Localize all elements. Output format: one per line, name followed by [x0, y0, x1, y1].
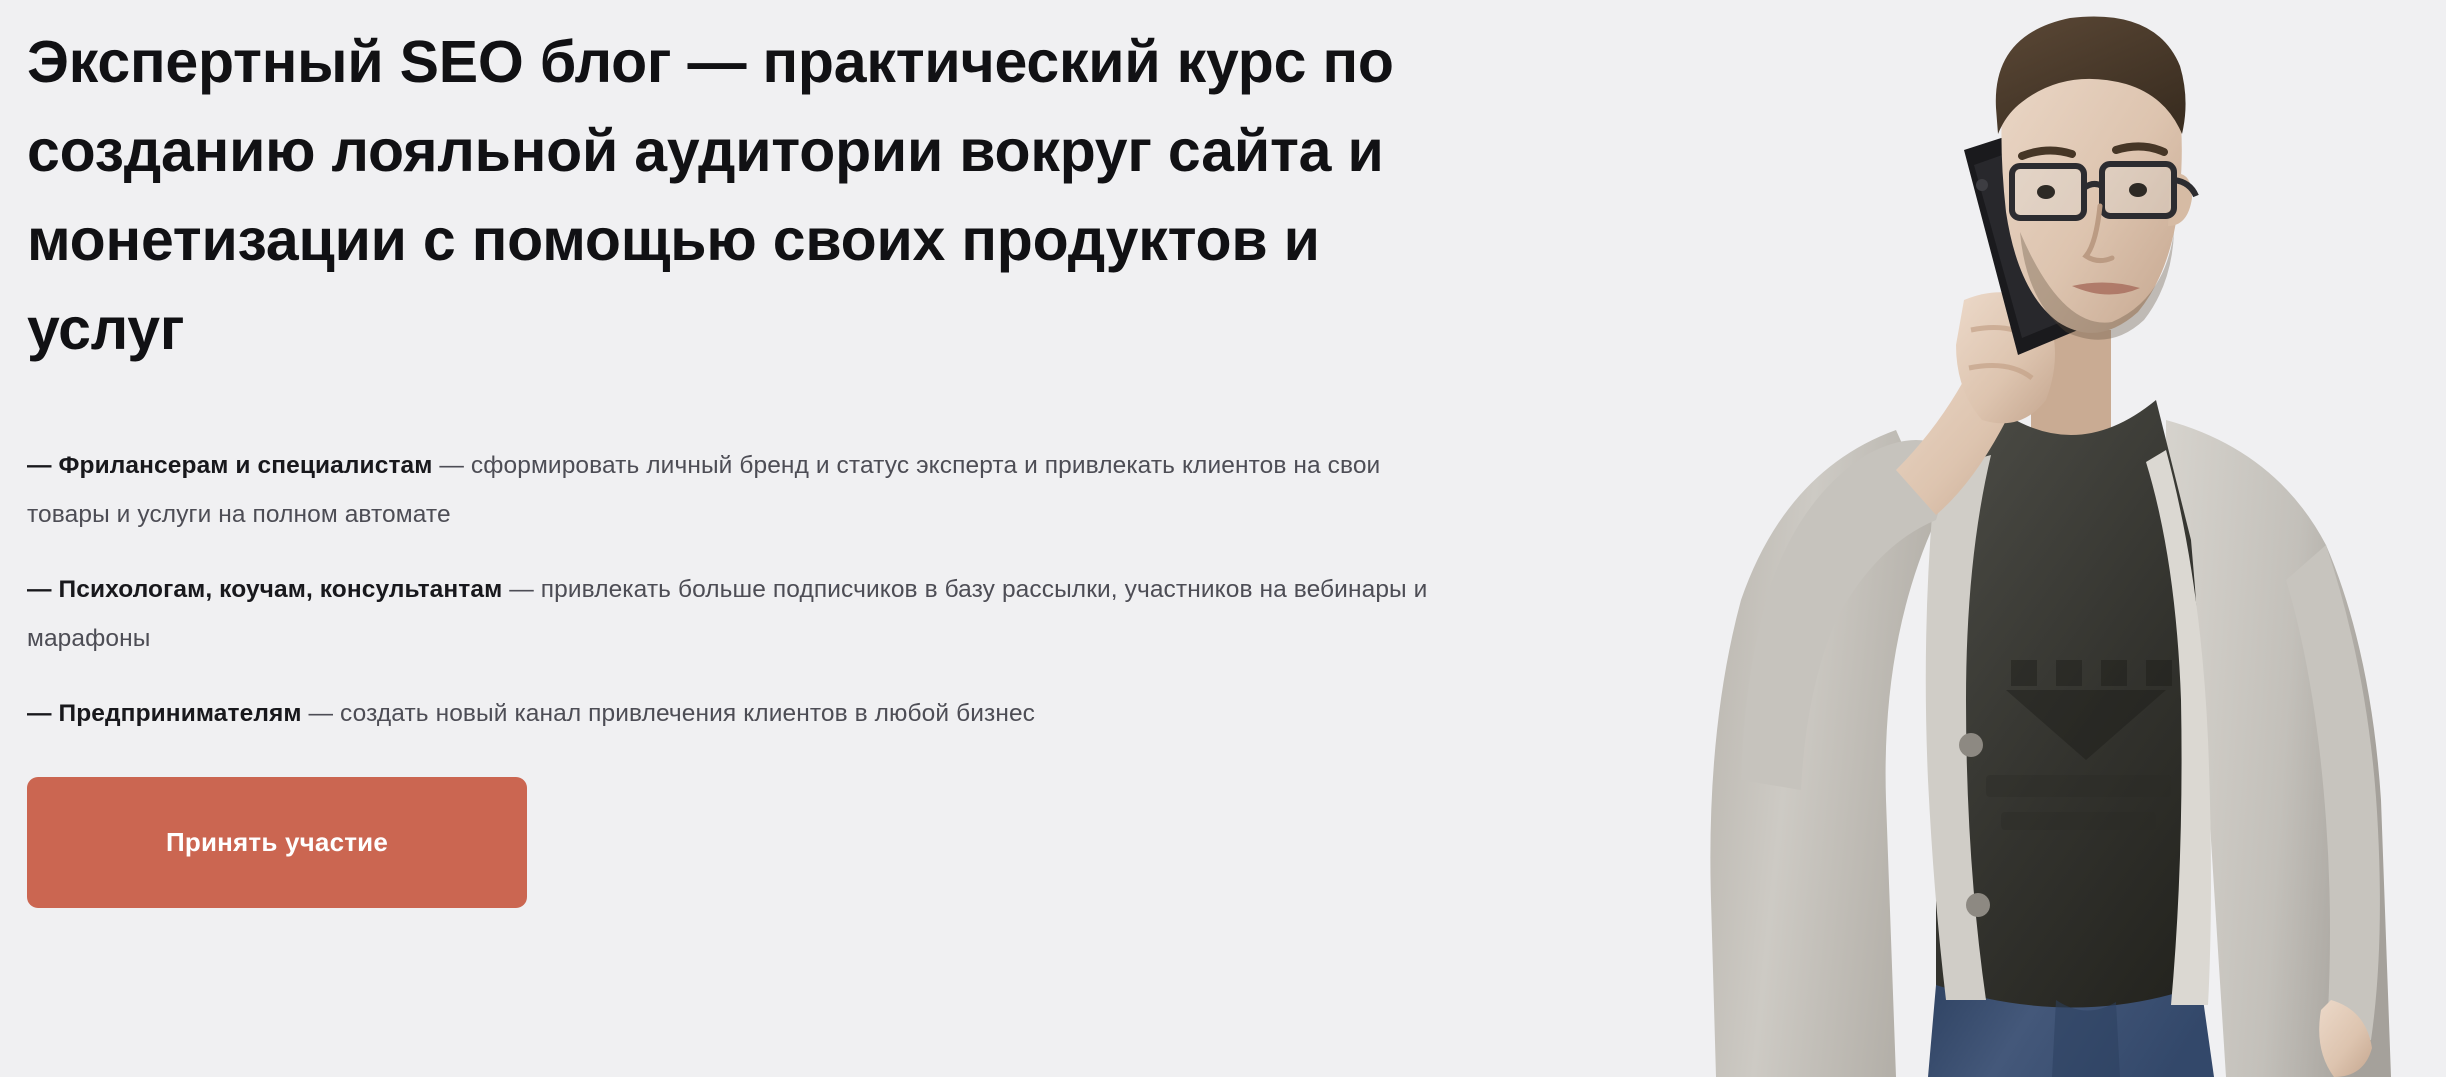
hero-photo — [1466, 0, 2446, 1077]
bullet-rest: — создать новый канал привлечения клиент… — [302, 700, 1035, 727]
bullet-lead: Предпринимателям — [59, 700, 302, 727]
bullet-lead: Фрилансерам и специалистам — [59, 452, 433, 479]
bullet-lead: Психологам, коучам, консультантам — [59, 576, 503, 603]
businessman-on-phone-photo — [1466, 0, 2446, 1077]
bullet-dash: — — [27, 700, 52, 727]
cta-container: Принять участие — [27, 777, 527, 908]
list-item: — Психологам, коучам, консультантам — пр… — [27, 565, 1447, 663]
audience-list: — Фрилансерам и специалистам — сформиров… — [27, 441, 1447, 738]
bullet-dash: — — [27, 576, 52, 603]
join-button[interactable]: Принять участие — [27, 777, 527, 908]
hero-content: Экспертный SEO блог — практический курс … — [27, 0, 1477, 1077]
list-item: — Предпринимателям — создать новый канал… — [27, 689, 1447, 738]
bullet-dash: — — [27, 452, 52, 479]
hero-section: Экспертный SEO блог — практический курс … — [0, 0, 2446, 1077]
page-title: Экспертный SEO блог — практический курс … — [27, 18, 1427, 374]
list-item: — Фрилансерам и специалистам — сформиров… — [27, 441, 1447, 539]
